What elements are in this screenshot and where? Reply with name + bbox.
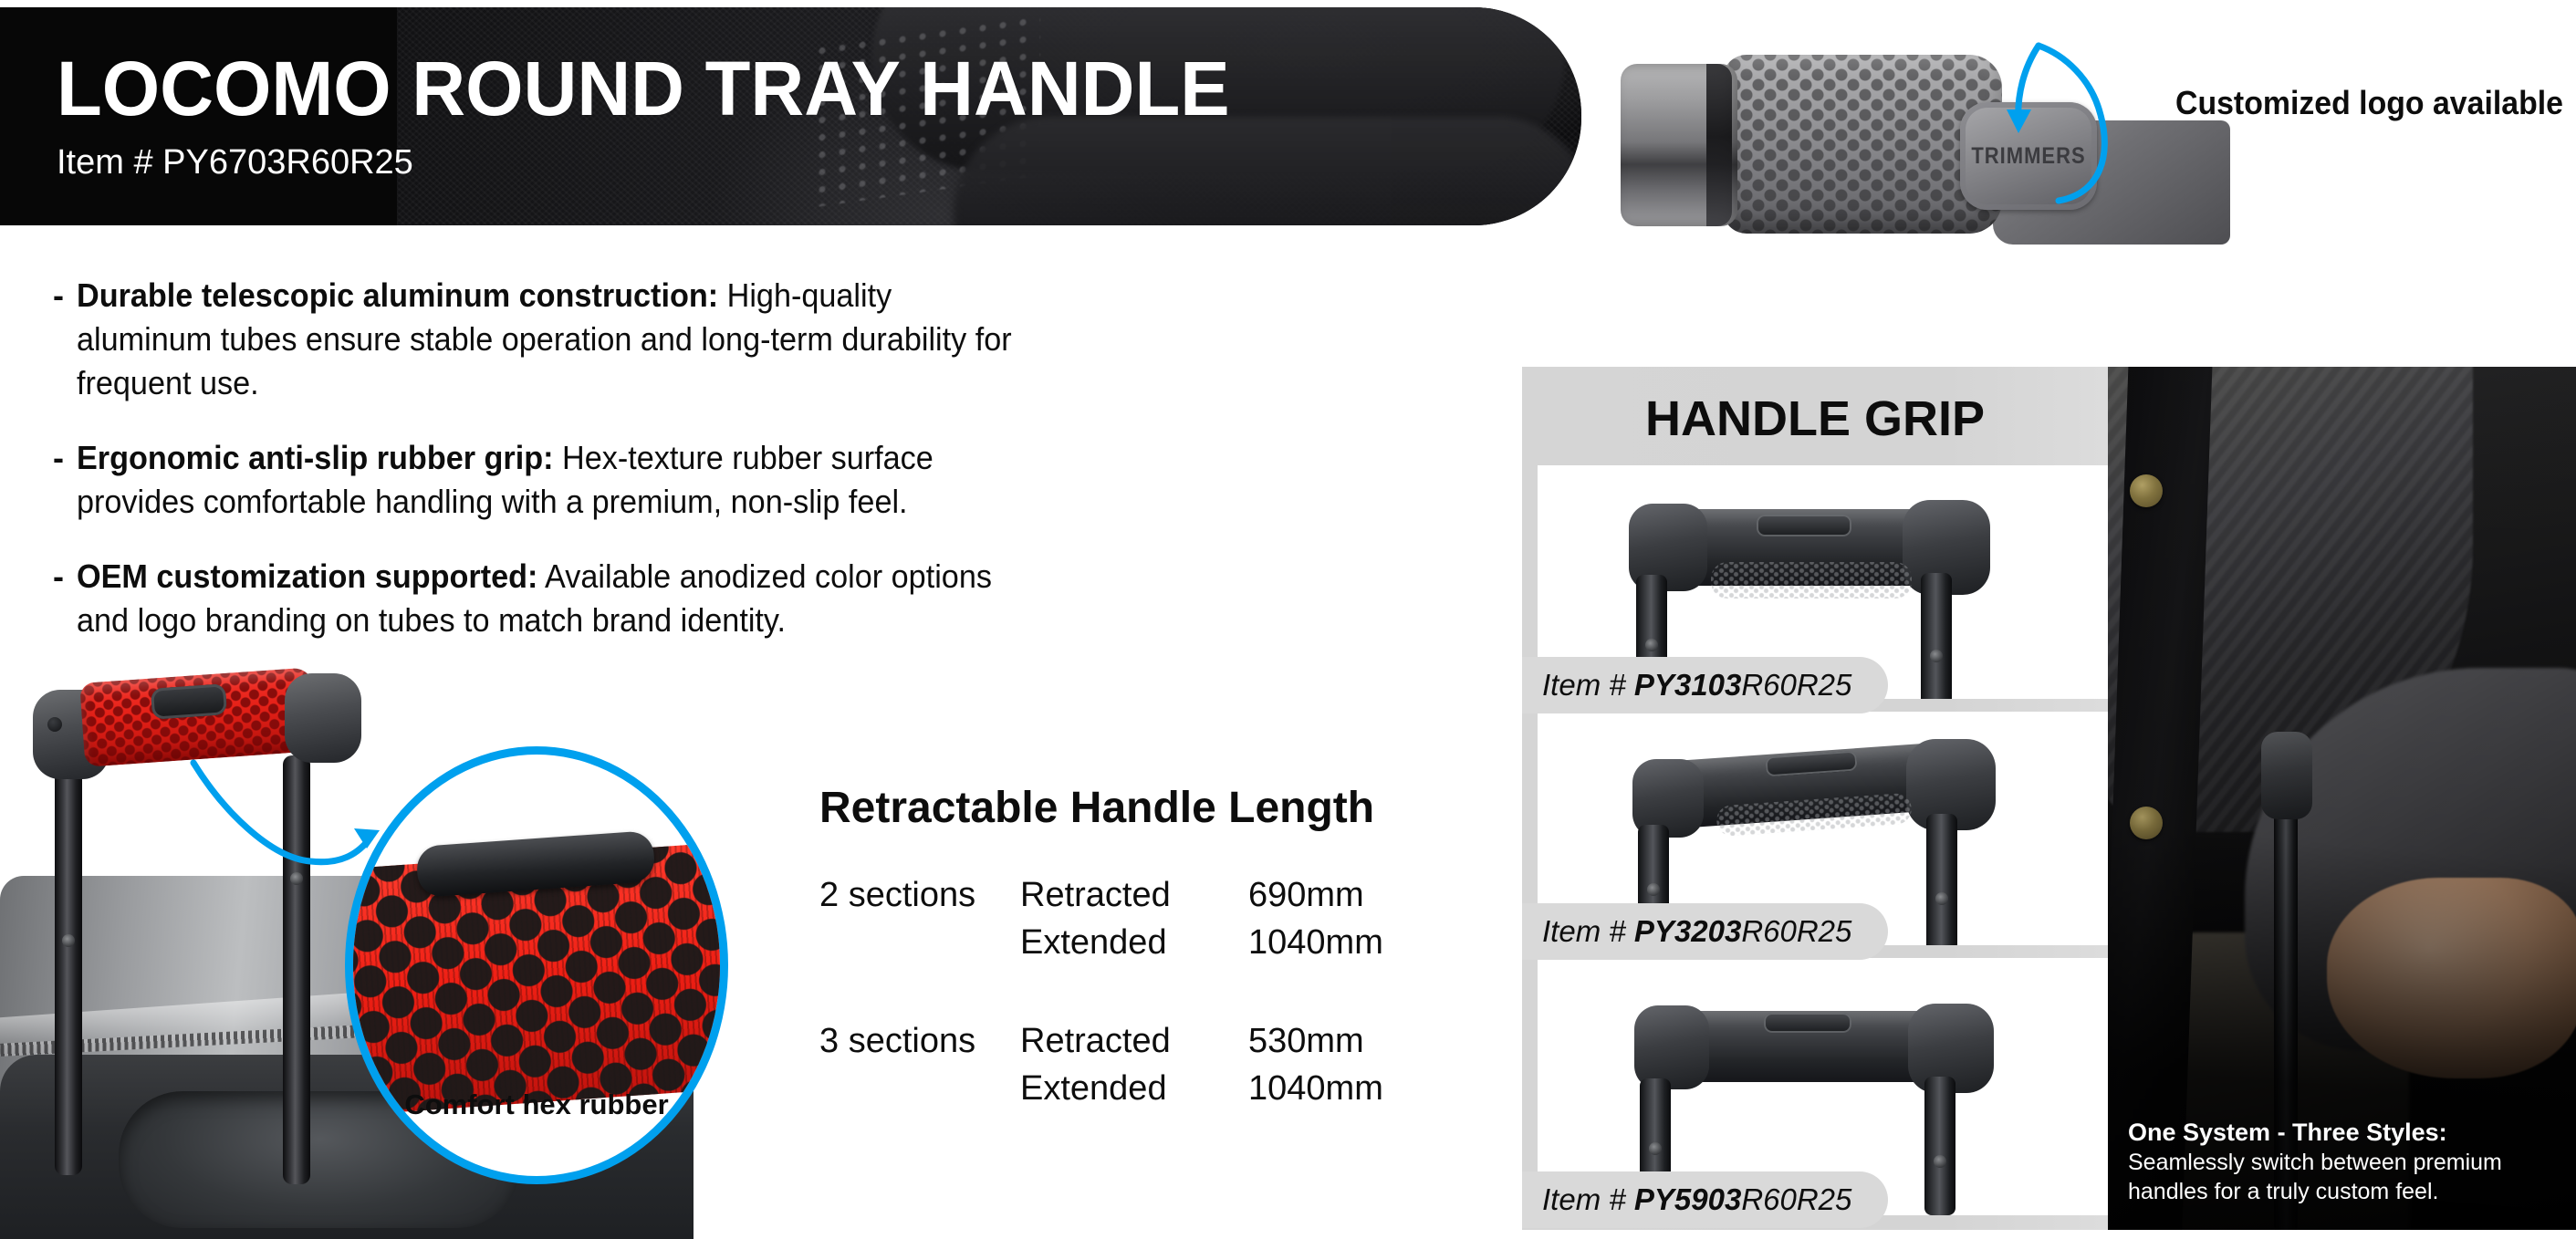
photo-caption-line1: Seamlessly switch between premium bbox=[2128, 1148, 2558, 1177]
item-code-badge: Item # PY3103R60R25 bbox=[1522, 657, 1888, 713]
handle-left-cap bbox=[1634, 1005, 1709, 1089]
photo-shading-overlay bbox=[2108, 367, 2576, 1230]
cell-value: 530mm bbox=[1248, 1017, 1458, 1065]
page-title: LOCOMO ROUND TRAY HANDLE bbox=[57, 49, 1230, 128]
handle-length-title: Retractable Handle Length bbox=[819, 783, 1458, 833]
red-grip-assembly bbox=[33, 673, 334, 757]
item-code-bold: PY5903 bbox=[1634, 1182, 1741, 1216]
handle-release-button bbox=[151, 683, 227, 720]
item-code-text: Item # PY3203R60R25 bbox=[1542, 914, 1851, 949]
tube-screw-icon bbox=[1935, 892, 1948, 905]
photo-caption-line2: handles for a truly custom feel. bbox=[2128, 1177, 2558, 1206]
item-prefix: Item # bbox=[1542, 914, 1634, 948]
bullet-dash: - bbox=[53, 274, 77, 405]
bullet-dash: - bbox=[53, 555, 77, 642]
handle-length-table: 2 sections Retracted 690mm Extended 1040… bbox=[819, 871, 1458, 1112]
item-code-rest: R60R25 bbox=[1741, 668, 1851, 702]
grip-metal-ferrule bbox=[1621, 64, 1737, 226]
item-code-badge: Item # PY5903R60R25 bbox=[1522, 1171, 1888, 1228]
cell-value: 690mm bbox=[1248, 871, 1458, 919]
spacer bbox=[819, 966, 1020, 1017]
bullet-bold-label: Ergonomic anti-slip rubber grip: bbox=[77, 439, 554, 476]
list-item: - OEM customization supported: Available… bbox=[53, 555, 1476, 642]
cell-state: Retracted bbox=[1020, 871, 1248, 919]
item-code-rest: R60R25 bbox=[1741, 914, 1851, 948]
cell-value: 1040mm bbox=[1248, 919, 1458, 966]
handle-release-button bbox=[1757, 515, 1851, 536]
handle-length-section: Retractable Handle Length 2 sections Ret… bbox=[819, 783, 1458, 1112]
header-text-group: LOCOMO ROUND TRAY HANDLE Item # PY6703R6… bbox=[57, 7, 1266, 182]
zoom-detail-label: Comfort hex rubber bbox=[353, 1088, 720, 1121]
feature-list: - Durable telescopic aluminum constructi… bbox=[53, 274, 1476, 673]
bullet-bold-label: OEM customization supported: bbox=[77, 557, 537, 595]
bullet-dash: - bbox=[53, 436, 77, 524]
list-item: - Ergonomic anti-slip rubber grip: Hex-t… bbox=[53, 436, 1476, 524]
logo-callout-caption: Customized logo available bbox=[2175, 84, 2563, 122]
lifestyle-photo: One System - Three Styles: Seamlessly sw… bbox=[2108, 367, 2576, 1230]
item-code-text: Item # PY3103R60R25 bbox=[1542, 668, 1851, 703]
spacer bbox=[1248, 966, 1458, 1017]
cell-sections bbox=[819, 919, 1020, 966]
table-row: 3 sections Retracted 530mm bbox=[819, 1017, 1458, 1065]
spacer bbox=[1020, 966, 1248, 1017]
cell-sections: 3 sections bbox=[819, 1017, 1020, 1065]
bullet-text: Durable telescopic aluminum construction… bbox=[77, 274, 1030, 405]
cell-state: Extended bbox=[1020, 1065, 1248, 1112]
table-row: Extended 1040mm bbox=[819, 1065, 1458, 1112]
tube-screw-icon bbox=[1645, 639, 1658, 651]
photo-caption-title: One System - Three Styles: bbox=[2128, 1117, 2558, 1148]
handle-grip-dots bbox=[1711, 562, 1912, 599]
handle-leg-right bbox=[1926, 814, 1957, 945]
product-photo-group: Comfort hex rubber bbox=[0, 648, 821, 1239]
item-code-badge: Item # PY3203R60R25 bbox=[1522, 903, 1888, 960]
infographic-page: LOCOMO ROUND TRAY HANDLE Item # PY6703R6… bbox=[0, 0, 2576, 1239]
list-item: - Durable telescopic aluminum constructi… bbox=[53, 274, 1476, 405]
handle-release-button bbox=[1764, 1013, 1851, 1033]
item-code-text: Item # PY5903R60R25 bbox=[1542, 1182, 1851, 1217]
tube-screw-icon bbox=[62, 934, 75, 947]
cell-sections: 2 sections bbox=[819, 871, 1020, 919]
handle-grip-title: HANDLE GRIP bbox=[1522, 390, 2108, 447]
cell-sections bbox=[819, 1065, 1020, 1112]
table-row: 2 sections Retracted 690mm bbox=[819, 871, 1458, 919]
cell-state: Extended bbox=[1020, 919, 1248, 966]
handle-grip-panel: HANDLE GRIP bbox=[1522, 367, 2108, 1230]
item-prefix: Item # bbox=[1542, 668, 1634, 702]
item-code-bold: PY3203 bbox=[1634, 914, 1741, 948]
bullet-text: Ergonomic anti-slip rubber grip: Hex-tex… bbox=[77, 436, 1030, 524]
tube-screw-icon bbox=[1649, 1142, 1662, 1155]
endcap-dot-icon bbox=[47, 717, 62, 732]
item-prefix: Item # bbox=[1542, 1182, 1634, 1216]
header-item-number: Item # PY6703R60R25 bbox=[57, 142, 1266, 182]
zoom-detail-circle: Comfort hex rubber bbox=[345, 746, 728, 1184]
tube-screw-icon bbox=[1934, 1155, 1946, 1168]
item-code-rest: R60R25 bbox=[1741, 1182, 1851, 1216]
cell-state: Retracted bbox=[1020, 1017, 1248, 1065]
photo-caption: One System - Three Styles: Seamlessly sw… bbox=[2128, 1117, 2558, 1206]
handle-leg-right bbox=[1921, 573, 1952, 699]
handle-leg-right bbox=[1924, 1077, 1955, 1215]
red-hex-rubber-grip bbox=[79, 667, 318, 767]
tube-screw-icon bbox=[1930, 650, 1943, 662]
table-spacer-row bbox=[819, 966, 1458, 1017]
logo-callout-group: TRIMMERS Customized logo available bbox=[1621, 15, 2570, 226]
item-code-bold: PY3103 bbox=[1634, 668, 1741, 702]
bullet-bold-label: Durable telescopic aluminum construction… bbox=[77, 276, 718, 314]
cell-value: 1040mm bbox=[1248, 1065, 1458, 1112]
callout-arrow-icon bbox=[1922, 31, 2141, 213]
telescopic-tube-left bbox=[55, 755, 82, 1175]
tube-screw-icon bbox=[1647, 883, 1660, 896]
table-row: Extended 1040mm bbox=[819, 919, 1458, 966]
header-banner: LOCOMO ROUND TRAY HANDLE Item # PY6703R6… bbox=[0, 7, 1581, 225]
bullet-text: OEM customization supported: Available a… bbox=[77, 555, 1030, 642]
grip-endcap-right bbox=[285, 673, 361, 763]
